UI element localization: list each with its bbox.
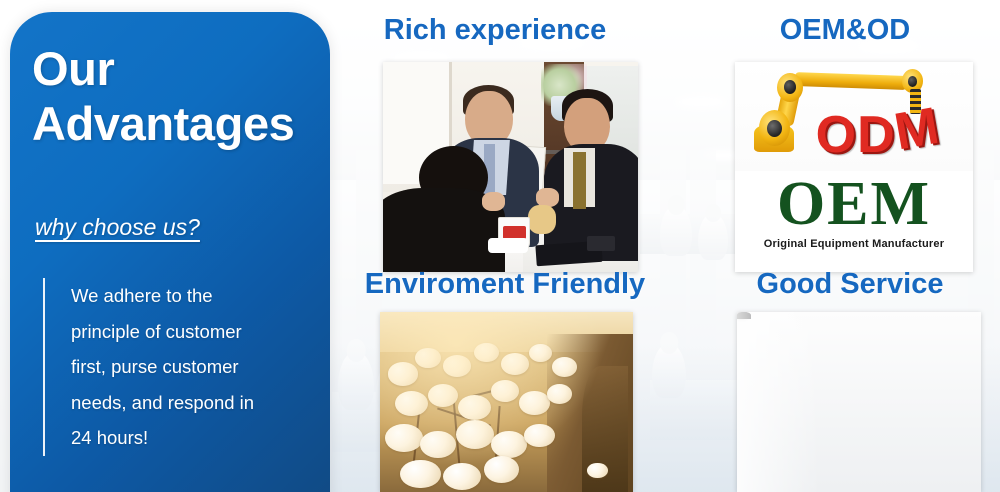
- advantages-panel: Our Advantages why choose us? We adhere …: [10, 12, 330, 492]
- advantages-banner: Our Advantages why choose us? We adhere …: [0, 0, 1000, 492]
- panel-body-line: first, purse customer: [71, 349, 330, 385]
- robot-arm-elbow-joint: [777, 73, 803, 102]
- card-title-enviroment-friendly: Enviroment Friendly: [340, 268, 670, 301]
- odm-letter-d: D: [857, 105, 896, 165]
- card-title-oem-odm: OEM&OD: [700, 14, 990, 47]
- photo-fade-overlay: [737, 312, 820, 492]
- call-center-scene: [737, 312, 981, 492]
- panel-title-line2: Advantages: [32, 97, 322, 152]
- panel-body-line: principle of customer: [71, 314, 330, 350]
- panel-body: We adhere to the principle of customer f…: [43, 278, 330, 456]
- odm-wordmark: ODM: [787, 100, 968, 171]
- card-oem-odm: OEM&OD ODM OEM Original Equipment Manufa…: [700, 14, 990, 264]
- card-enviroment-friendly: Enviroment Friendly: [340, 268, 670, 492]
- call-center-photo: [737, 312, 981, 492]
- panel-body-line: needs, and respond in: [71, 385, 330, 421]
- odm-letter-m: M: [890, 96, 944, 163]
- business-meeting-photo: [383, 62, 638, 272]
- card-title-rich-experience: Rich experience: [345, 14, 645, 47]
- card-good-service: Good Service: [700, 268, 1000, 492]
- phone: [587, 236, 615, 251]
- card-title-good-service: Good Service: [700, 268, 1000, 301]
- card-rich-experience: Rich experience: [345, 14, 645, 264]
- panel-title-line1: Our: [32, 42, 322, 97]
- panel-title: Our Advantages: [32, 42, 322, 151]
- odm-letter-o: O: [816, 105, 857, 165]
- panel-subtitle: why choose us?: [35, 214, 200, 241]
- noodles: [528, 205, 556, 234]
- sunlight-glow: [380, 312, 633, 492]
- oem-caption: Original Equipment Manufacturer: [735, 238, 973, 250]
- robot-arm-pivot-joint: [759, 110, 790, 146]
- food-tray: [488, 238, 529, 253]
- cotton-field-photo: [380, 312, 633, 492]
- oem-wordmark: OEM: [735, 173, 973, 236]
- odm-oem-logo: ODM OEM Original Equipment Manufacturer: [735, 62, 973, 272]
- panel-body-line: We adhere to the: [71, 278, 330, 314]
- meeting-scene: [383, 62, 638, 272]
- logo-scene: ODM OEM Original Equipment Manufacturer: [735, 62, 973, 272]
- cotton-field-scene: [380, 312, 633, 492]
- necktie: [573, 152, 586, 209]
- hand: [482, 192, 505, 211]
- panel-body-line: 24 hours!: [71, 420, 330, 456]
